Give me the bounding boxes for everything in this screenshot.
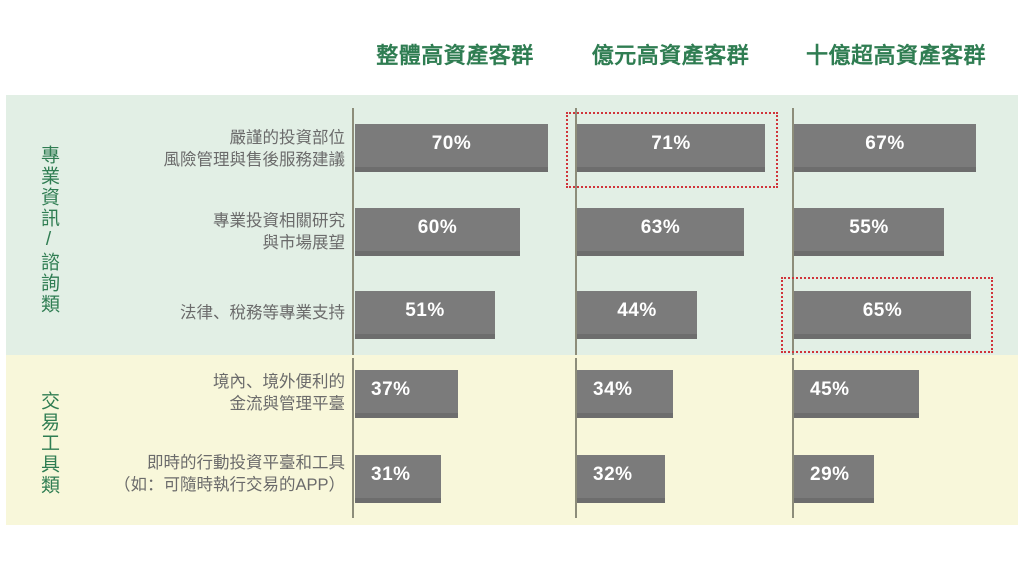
bar-r4-c2: 29% [794,455,874,503]
bar-value: 32% [593,464,633,486]
bar-r2-c0: 51% [355,291,495,339]
bar-value: 70% [432,133,472,155]
bar-r3-c2: 45% [794,370,919,418]
column-header-billion: 十億超高資產客群 [788,38,1004,70]
bar-r1-c1: 63% [577,208,744,256]
bar-r1-c0: 60% [355,208,520,256]
row-label-line2: （如：可隨時執行交易的APP） [5,474,345,496]
chart-root: 整體高資產客群 億元高資產客群 十億超高資產客群 專業資訊/諮詢類 交易工具類 … [0,0,1024,576]
column-header-overall: 整體高資產客群 [355,38,555,70]
column-header-hundred-million: 億元高資產客群 [578,38,763,70]
bar-value: 45% [810,379,850,401]
bar-r0-c1: 71% [577,124,765,172]
row-label-line1: 專業投資相關研究 [45,210,345,232]
column-headers: 整體高資產客群 億元高資產客群 十億超高資產客群 [0,38,1024,78]
row-label-line1: 嚴謹的投資部位 [45,127,345,149]
bar-r1-c2: 55% [794,208,944,256]
bar-r0-c0: 70% [355,124,548,172]
bar-r2-c2: 65% [794,291,971,339]
bar-value: 60% [418,217,458,239]
row-label-legal-tax-support: 法律、稅務等專業支持 [45,302,345,324]
row-label-cash-flow-platform: 境內、境外便利的 金流與管理平臺 [45,371,345,416]
bar-r3-c0: 37% [355,370,458,418]
bar-r4-c1: 32% [577,455,665,503]
row-label-line2: 金流與管理平臺 [45,393,345,415]
row-label-mobile-app: 即時的行動投資平臺和工具 （如：可隨時執行交易的APP） [5,452,345,497]
bar-r2-c1: 44% [577,291,697,339]
bar-value: 67% [865,133,905,155]
bar-value: 31% [371,464,411,486]
bar-r3-c1: 34% [577,370,673,418]
bar-value: 44% [617,300,657,322]
bar-value: 63% [641,217,681,239]
row-label-research-outlook: 專業投資相關研究 與市場展望 [45,210,345,255]
bar-value: 51% [405,300,445,322]
bar-value: 29% [810,464,850,486]
row-label-risk-management: 嚴謹的投資部位 風險管理與售後服務建議 [45,127,345,172]
row-label-line1: 即時的行動投資平臺和工具 [5,452,345,474]
row-label-line1: 法律、稅務等專業支持 [45,302,345,324]
row-label-line2: 風險管理與售後服務建議 [45,149,345,171]
row-label-line1: 境內、境外便利的 [45,371,345,393]
bar-value: 55% [849,217,889,239]
axis-line-col0-top [352,108,354,355]
axis-line-col0-bottom [352,358,354,518]
bar-value: 71% [651,133,691,155]
bar-value: 65% [863,300,903,322]
bar-r4-c0: 31% [355,455,441,503]
bar-value: 37% [371,379,411,401]
bar-value: 34% [593,379,633,401]
row-label-line2: 與市場展望 [45,232,345,254]
bar-r0-c2: 67% [794,124,976,172]
